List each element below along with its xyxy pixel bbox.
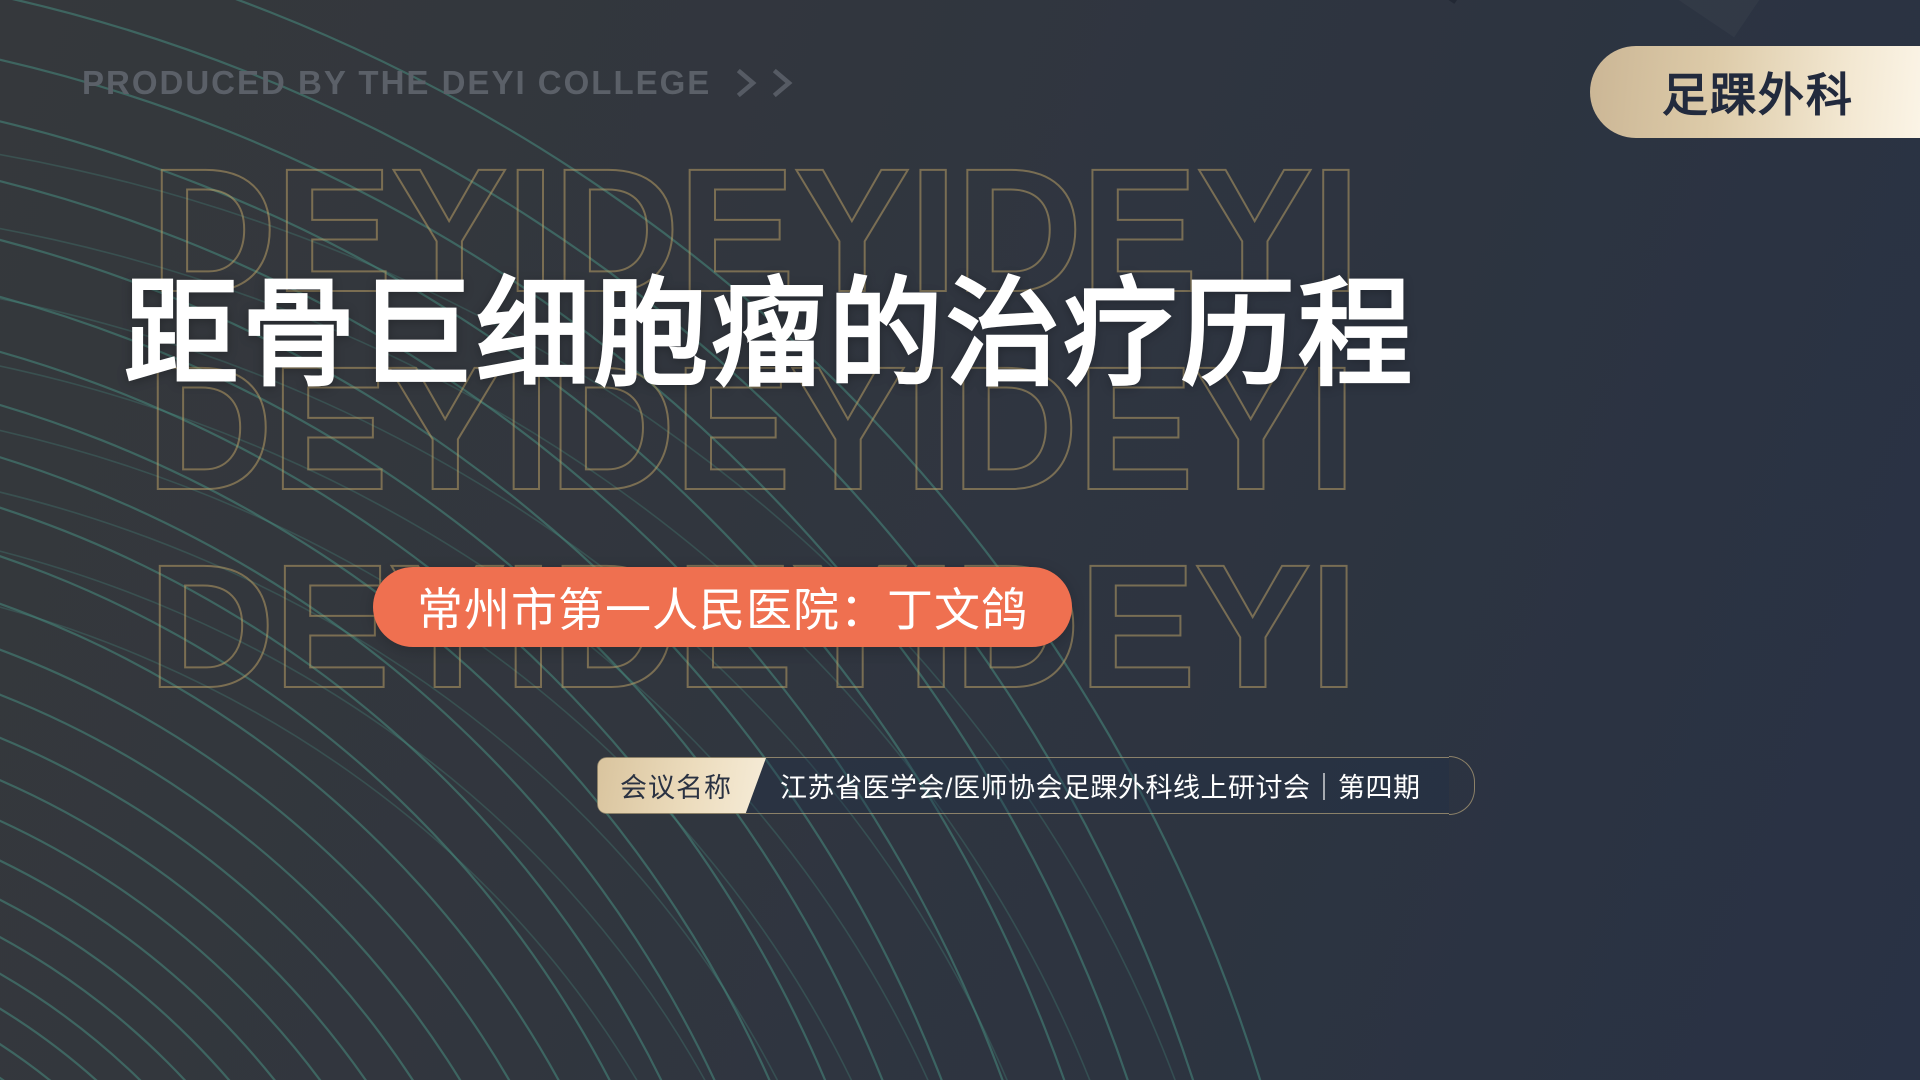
arc-lines-decoration: [0, 0, 1430, 1080]
presenter-pill: 常州市第一人民医院：丁文鸽: [373, 567, 1072, 647]
conference-tag: 会议名称: [598, 758, 766, 813]
title-slide: DEYIDEYIDEYI DEYIDEYIDEYI DEYIDEYIDEYI P…: [0, 0, 1920, 1080]
producer-eyebrow: PRODUCED BY THE DEYI COLLEGE: [82, 64, 799, 102]
specialty-badge: 足踝外科: [1590, 46, 1920, 138]
conference-tag-label: 会议名称: [620, 766, 732, 805]
page-title: 距骨巨细胞瘤的治疗历程: [124, 272, 1579, 399]
conference-bar-cap: [1449, 756, 1475, 814]
presenter-label: 常州市第一人民医院：丁文鸽: [417, 574, 1028, 640]
conference-bar: 会议名称 江苏省医学会/医师协会足踝外科线上研讨会｜第四期: [597, 757, 1449, 814]
conference-name: 江苏省医学会/医师协会足踝外科线上研讨会｜第四期: [766, 758, 1449, 813]
specialty-badge-label: 足踝外科: [1662, 59, 1854, 125]
double-chevron-right-icon: [737, 68, 799, 98]
producer-eyebrow-text: PRODUCED BY THE DEYI COLLEGE: [82, 64, 711, 102]
diagonal-sheen-decoration: [0, 0, 1920, 1080]
